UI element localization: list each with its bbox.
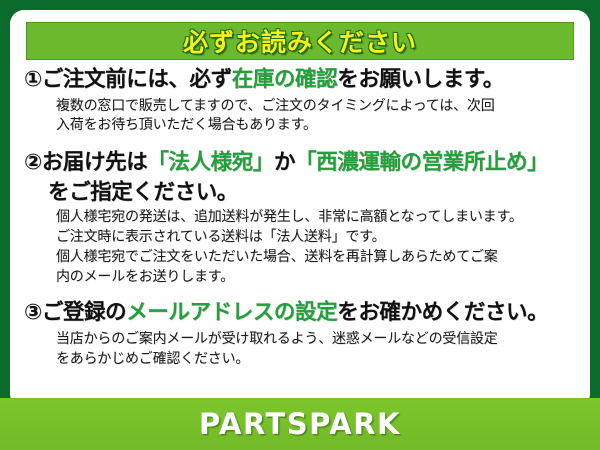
notice-section-2: ②お届け先は「法人様宛」か「西濃運輸の営業所止め」 をご指定ください。 個人様宅… [10,149,590,288]
section-1-marker: ① [24,67,42,92]
section-3-marker: ③ [24,300,42,325]
notice-section-3: ③ご登録のメールアドレスの設定をお確かめください。 当店からのご案内メールが受け… [10,299,590,370]
section-1-part-0: ご注文前には、必ず [42,67,232,92]
section-2-highlight-corporate: 「法人様宛」 [147,150,274,175]
section-1-body-line-2: 入荷をお待ち頂いただく場合もあります。 [10,116,590,136]
page-title: 必ずお読みください [183,23,417,59]
brand-logo-partspark: PARTSPARK [199,407,401,441]
section-3-part-2: をお確かめください。 [337,300,548,325]
section-3-body-line-2: をあらかじめご確認ください。 [10,350,590,370]
section-3-body-line-1: 当店からのご案内メールが受け取れるよう、迷惑メールなどの受信設定 [10,330,590,350]
notice-panel: 必ずお読みください ①ご注文前には、必ず在庫の確認をお願いします。 複数の窓口で… [10,10,590,408]
section-2-body-line-3: 個人様宅宛でご注文をいただいた場合、送料を再計算しあらためてご案 [10,248,590,268]
section-2-body-line-2: ご注文時に表示されている送料は「法人送料」です。 [10,228,590,248]
section-2-marker: ② [24,150,42,175]
section-1-highlight: 在庫の確認 [232,67,338,92]
section-1-part-2: をお願いします。 [337,67,504,92]
section-3-heading: ③ご登録のメールアドレスの設定をお確かめください。 [10,299,590,327]
section-2-highlight-seino: 「西濃運輸の営業所止め」 [295,150,548,175]
section-1-body-line-1: 複数の窓口で販売してますので、ご注文のタイミングによっては、次回 [10,97,590,117]
section-2-heading-line-2: をご指定ください。 [10,179,590,207]
footer-band: PARTSPARK [0,398,600,450]
notice-section-1: ①ご注文前には、必ず在庫の確認をお願いします。 複数の窓口で販売してますので、ご… [10,66,590,136]
section-2-body-line-4: 内のメールをお送りします。 [10,268,590,288]
section-2-part-0: お届け先は [42,150,148,175]
section-1-heading: ①ご注文前には、必ず在庫の確認をお願いします。 [10,66,590,94]
section-2-body-line-1: 個人様宅宛の発送は、追加送料が発生し、非常に高額となってしまいます。 [10,208,590,228]
section-2-heading: ②お届け先は「法人様宛」か「西濃運輸の営業所止め」 [10,149,590,177]
title-banner: 必ずお読みください [26,22,574,60]
notice-card: 必ずお読みください ①ご注文前には、必ず在庫の確認をお願いします。 複数の窓口で… [0,0,600,450]
sections-container: ①ご注文前には、必ず在庫の確認をお願いします。 複数の窓口で販売してますので、ご… [10,66,590,372]
section-2-part-2: か [274,150,295,175]
section-3-highlight: メールアドレスの設定 [126,300,337,325]
section-3-part-0: ご登録の [42,300,126,325]
